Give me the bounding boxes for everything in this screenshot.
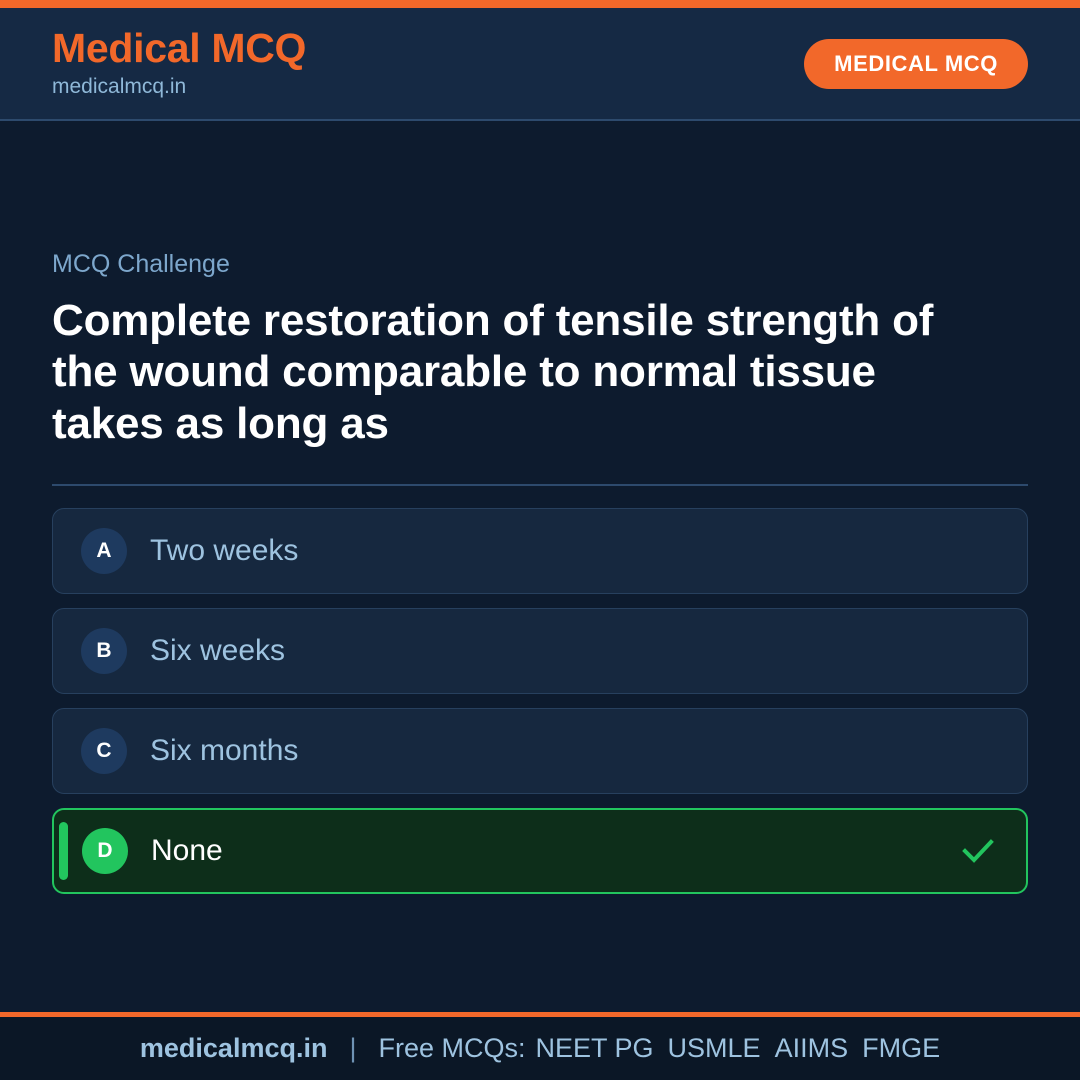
option-a-text: Two weeks (150, 533, 298, 569)
section-eyebrow: MCQ Challenge (52, 249, 1028, 279)
option-d-text: None (151, 833, 223, 869)
brand-title: Medical MCQ (52, 26, 306, 70)
main-content: MCQ Challenge Complete restoration of te… (0, 121, 1080, 1012)
option-c-letter: C (81, 728, 127, 774)
header-badge: MEDICAL MCQ (804, 39, 1028, 89)
top-accent-bar (0, 0, 1080, 8)
question-text: Complete restoration of tensile strength… (52, 295, 982, 449)
option-d-letter: D (82, 828, 128, 874)
footer-exam-fmge: FMGE (862, 1033, 940, 1064)
footer-exam-neet-pg: NEET PG (536, 1033, 654, 1064)
option-a[interactable]: A Two weeks (52, 508, 1028, 594)
page-header: Medical MCQ medicalmcq.in MEDICAL MCQ (0, 8, 1080, 121)
option-c-text: Six months (150, 733, 298, 769)
footer-exam-usmle: USMLE (668, 1033, 761, 1064)
footer-separator: | (349, 1033, 356, 1064)
question-divider (52, 484, 1028, 486)
checkmark-icon (958, 831, 998, 871)
footer-exam-aiims: AIIMS (775, 1033, 849, 1064)
brand: Medical MCQ medicalmcq.in (52, 26, 306, 101)
option-d[interactable]: D None (52, 808, 1028, 894)
options-list: A Two weeks B Six weeks C Six months D N… (52, 508, 1028, 894)
footer-text: medicalmcq.in | Free MCQs: NEET PG USMLE… (140, 1033, 940, 1064)
option-a-letter: A (81, 528, 127, 574)
option-b-text: Six weeks (150, 633, 285, 669)
option-b-letter: B (81, 628, 127, 674)
option-c[interactable]: C Six months (52, 708, 1028, 794)
page-footer: medicalmcq.in | Free MCQs: NEET PG USMLE… (0, 1012, 1080, 1080)
correct-accent-bar (59, 822, 68, 880)
footer-site: medicalmcq.in (140, 1033, 328, 1064)
brand-subtitle: medicalmcq.in (52, 73, 306, 100)
option-b[interactable]: B Six weeks (52, 608, 1028, 694)
footer-label: Free MCQs: (378, 1033, 525, 1064)
